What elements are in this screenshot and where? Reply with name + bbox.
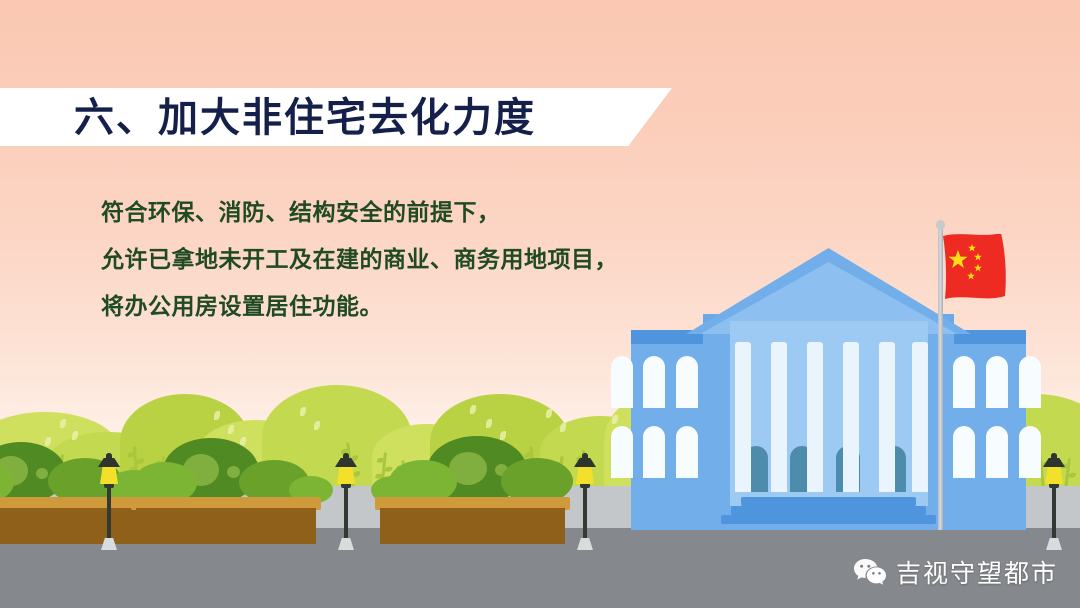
body-line: 符合环保、消防、结构安全的前提下，	[101, 190, 721, 237]
building-window	[1019, 426, 1041, 478]
lamp-light	[1045, 467, 1063, 484]
chinese-national-flag-icon	[943, 234, 1017, 306]
building-window	[643, 356, 665, 408]
street-lamp	[105, 470, 113, 546]
building-window	[953, 356, 975, 408]
portico-column	[879, 342, 895, 492]
building-window	[986, 426, 1008, 478]
building-window	[676, 356, 698, 408]
body-line: 将办公用房设置居住功能。	[101, 284, 721, 331]
planter-box	[131, 494, 321, 544]
portico-column	[735, 342, 751, 492]
lamp-finial	[106, 453, 112, 458]
portico-column	[807, 342, 823, 492]
lamp-light	[576, 467, 594, 484]
portico-column	[771, 342, 787, 492]
body-text-block: 符合环保、消防、结构安全的前提下， 允许已拿地未开工及在建的商业、商务用地项目，…	[101, 190, 721, 331]
lamp-finial	[1051, 453, 1057, 458]
building-step	[741, 497, 916, 506]
lamp-finial	[343, 453, 349, 458]
portico-column	[912, 342, 928, 492]
lamp-light	[337, 467, 355, 484]
channel-watermark: 吉视守望都市	[853, 554, 1058, 590]
lamp-finial	[582, 453, 588, 458]
page-title: 六、加大非住宅去化力度	[74, 92, 674, 144]
building-window	[611, 426, 633, 478]
slide-canvas: 六、加大非住宅去化力度 符合环保、消防、结构安全的前提下， 允许已拿地未开工及在…	[0, 0, 1080, 608]
planter-body	[136, 508, 316, 544]
building-window	[1019, 356, 1041, 408]
building-step	[731, 506, 926, 515]
building-step	[721, 515, 936, 524]
flagpole-finial	[936, 220, 945, 230]
building-window	[676, 426, 698, 478]
street-lamp	[1050, 470, 1058, 546]
street-lamp	[342, 470, 350, 546]
planter-body	[380, 508, 565, 544]
building-window	[611, 356, 633, 408]
channel-name: 吉视守望都市	[896, 554, 1058, 590]
body-line: 允许已拿地未开工及在建的商业、商务用地项目，	[101, 237, 721, 284]
wechat-logo-icon	[853, 558, 887, 586]
portico-column	[843, 342, 859, 492]
building-window	[643, 426, 665, 478]
planter-box	[375, 494, 570, 544]
building-window	[953, 426, 975, 478]
street-lamp	[581, 470, 589, 546]
lamp-light	[100, 467, 118, 484]
building-window	[986, 356, 1008, 408]
